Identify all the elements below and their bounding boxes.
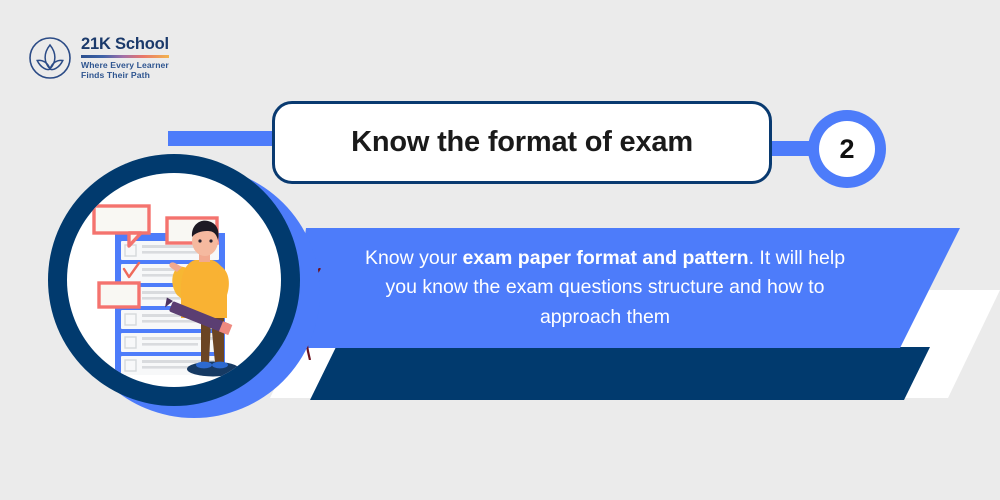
band-navy: [310, 347, 930, 400]
speech-bubble-bottom-left: [99, 283, 139, 307]
body-text-before: Know your: [365, 247, 463, 269]
illustration-circle: [42, 148, 332, 438]
brand-rule: [81, 55, 169, 58]
title-card: Know the format of exam: [272, 101, 772, 184]
brand-name: 21K School: [81, 36, 169, 53]
body-text: Know your exam paper format and pattern.…: [360, 244, 850, 333]
body-text-bold: exam paper format and pattern: [463, 247, 749, 269]
ring-inner-white: [67, 173, 281, 387]
brand-logo: 21K School Where Every Learner Finds The…: [28, 30, 228, 86]
brand-tagline-line1: Where Every Learner: [81, 60, 169, 70]
step-number: 2: [839, 134, 854, 165]
step-number-badge-inner: 2: [819, 121, 875, 177]
page-title: Know the format of exam: [351, 126, 693, 159]
exam-checklist-illustration: [67, 173, 281, 387]
step-number-badge: 2: [808, 110, 886, 188]
band-blue-content: Know your exam paper format and pattern.…: [290, 228, 960, 348]
brand-logo-text: 21K School Where Every Learner Finds The…: [81, 36, 169, 80]
slide-canvas: 21K School Where Every Learner Finds The…: [0, 0, 1000, 500]
lotus-circle-icon: [28, 36, 72, 80]
brand-tagline-line2: Finds Their Path: [81, 70, 169, 80]
